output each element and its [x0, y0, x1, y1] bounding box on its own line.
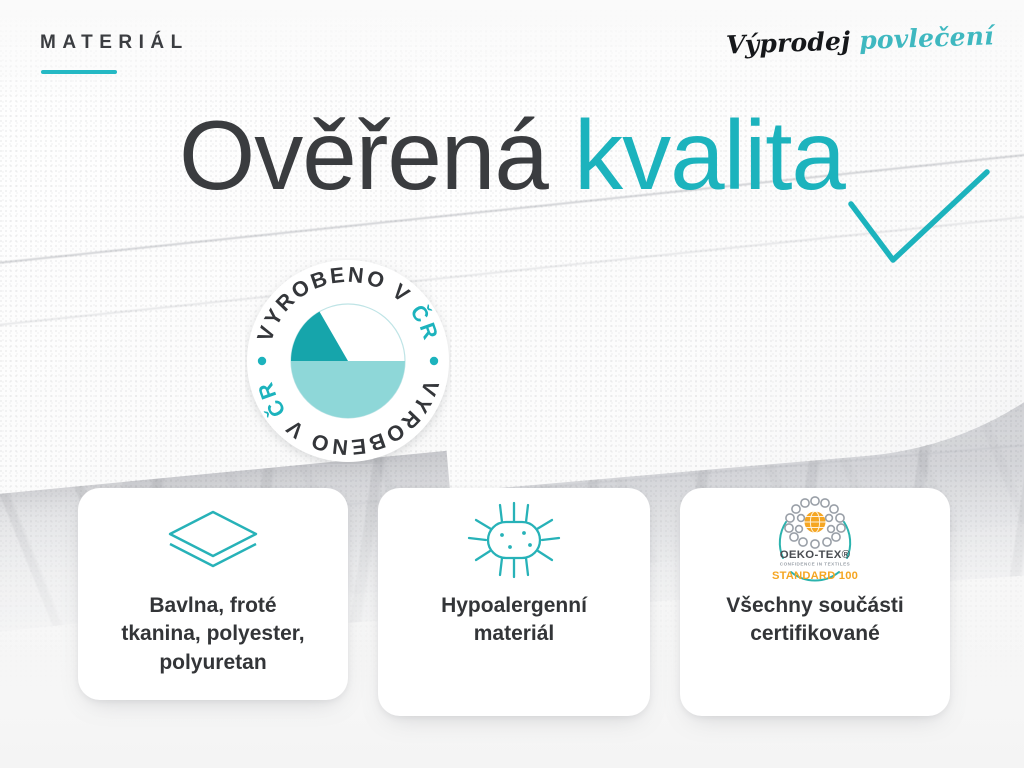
- brand-logo-word-2: povlečení: [859, 21, 995, 55]
- feature-card-label: Bavlna, froté tkanina, polyester, polyur…: [103, 592, 322, 699]
- feature-card-icon-wrap: OEKO-TEX® CONFIDENCE IN TEXTILES STANDAR…: [680, 488, 950, 592]
- section-kicker: MATERIÁL: [40, 32, 189, 54]
- feature-card-list: Bavlna, froté tkanina, polyester, polyur…: [0, 488, 1024, 768]
- feature-card-material[interactable]: Bavlna, froté tkanina, polyester, polyur…: [78, 488, 348, 700]
- oeko-tex-tagline: CONFIDENCE IN TEXTILES: [780, 562, 850, 567]
- badge-pie-chart: [291, 304, 405, 418]
- kicker-underline: [41, 70, 117, 74]
- top-fade-overlay: [0, 0, 1024, 110]
- page-title-part-2: kvalita: [574, 100, 845, 210]
- oeko-tex-brand: OEKO-TEX®: [780, 549, 851, 561]
- feature-card-label: Všechny součásti certifikované: [708, 592, 921, 671]
- oeko-tex-certificate-icon: OEKO-TEX® CONFIDENCE IN TEXTILES STANDAR…: [763, 492, 867, 588]
- feature-card-certified[interactable]: OEKO-TEX® CONFIDENCE IN TEXTILES STANDAR…: [680, 488, 950, 716]
- brand-logo-word-1: Výprodej: [726, 26, 851, 59]
- page-title-part-1: Ověřená: [179, 100, 548, 210]
- feature-card-icon-wrap: [378, 488, 650, 592]
- badge-dot-right: [430, 357, 438, 365]
- feature-card-label: Hypoalergenní materiál: [423, 592, 605, 671]
- feature-card-icon-wrap: [78, 488, 348, 592]
- feature-card-hypoallergenic[interactable]: Hypoalergenní materiál: [378, 488, 650, 716]
- layers-icon: [165, 504, 261, 576]
- promo-banner: MATERIÁL Výprodej povlečení Ověřená kval…: [0, 0, 1024, 768]
- made-in-czech-republic-badge: VYROBENO V ČR VYROBENO V ČR: [245, 258, 451, 464]
- oeko-tex-standard: STANDARD 100: [772, 570, 858, 582]
- checkmark-icon: [845, 168, 995, 278]
- allergen-microbe-icon: [464, 497, 564, 583]
- badge-dot-left: [258, 357, 266, 365]
